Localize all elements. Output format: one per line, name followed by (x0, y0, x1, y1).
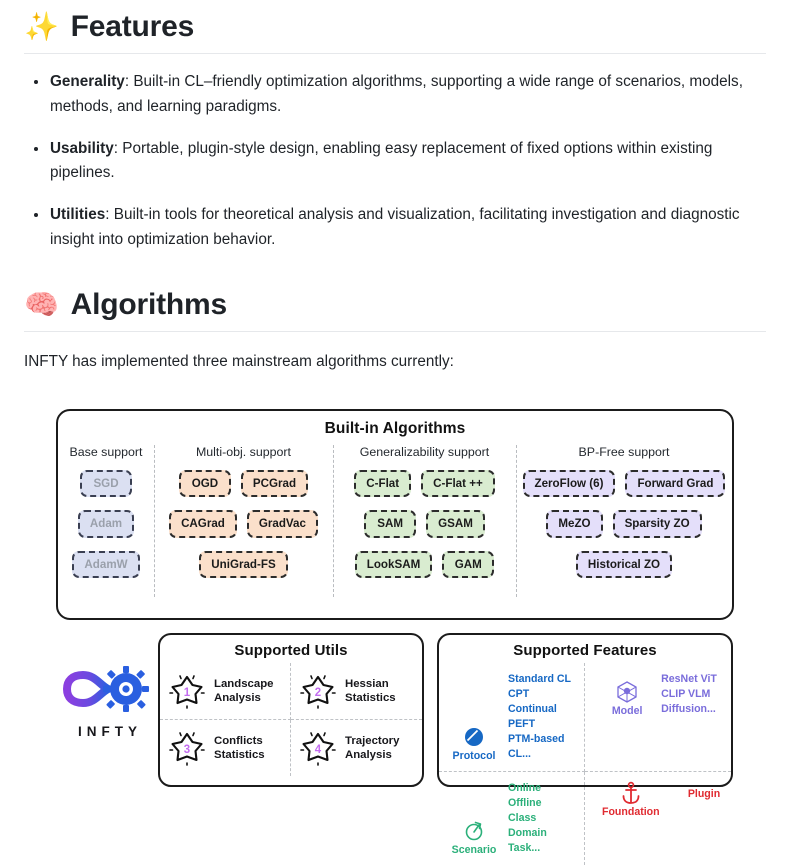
feature-item-protocol[interactable]: Protocol Standard CL CPT Continual PEFT … (439, 663, 585, 772)
util-item-hessian-statistics[interactable]: 2 Hessian Statistics (291, 663, 422, 720)
chip-row: ZeroFlow (6) Forward Grad (523, 470, 726, 497)
util-label-line1: Conflicts (214, 735, 263, 747)
chip-row: C-Flat C-Flat ++ (354, 470, 494, 497)
chip-row: SAM GSAM (364, 510, 485, 537)
feature-tag-line: Diffusion... (661, 702, 717, 717)
chip-row: UniGrad-FS (199, 551, 287, 578)
algorithms-divider (24, 331, 766, 332)
column-heading: Multi-obj. support (196, 445, 291, 459)
algorithm-chip-pcgrad[interactable]: PCGrad (241, 470, 308, 497)
feature-icon-label: Foundation (602, 806, 660, 818)
column-multiobj-support: Multi-obj. support OGD PCGrad CAGrad Gra… (154, 445, 333, 610)
infinity-gear-logo-icon (62, 665, 154, 713)
algorithm-chip-mezo[interactable]: MeZO (546, 510, 602, 537)
feature-item-generality: Generality: Built-in CL–friendly optimiz… (24, 70, 766, 120)
util-label-line1: Landscape (214, 678, 274, 690)
util-label: Landscape Analysis (214, 677, 274, 706)
algorithm-chip-looksam[interactable]: LookSAM (355, 551, 432, 578)
foundation-anchor-icon (620, 781, 642, 805)
feature-tags: ResNet ViT CLIP VLM Diffusion... (661, 672, 717, 717)
feature-item-utilities: Utilities: Built-in tools for theoretica… (24, 203, 766, 253)
algorithm-chip-gradvac[interactable]: GradVac (247, 510, 318, 537)
feature-tag-line: PTM-based CL... (508, 732, 577, 762)
util-label: Hessian Statistics (345, 677, 396, 706)
protocol-disc-icon (462, 725, 486, 749)
feature-item-foundation[interactable]: Foundation Plugin (585, 772, 731, 865)
page-root: ✨ Features Generality: Built-in CL–frien… (0, 0, 789, 800)
feature-tag-line: Online Offline (508, 781, 577, 811)
util-label-line1: Hessian (345, 678, 389, 690)
util-number: 3 (167, 729, 207, 767)
feature-icon-label: Model (612, 705, 643, 717)
util-label-line1: Trajectory (345, 735, 399, 747)
chip-rows: OGD PCGrad CAGrad GradVac UniGrad-FS (154, 470, 333, 578)
features-title: Features (71, 10, 194, 43)
algorithm-chip-forwardgrad[interactable]: Forward Grad (625, 470, 725, 497)
feature-icon-label: Scenario (452, 844, 497, 856)
star-icon: 1 (167, 672, 207, 710)
sparkles-icon: ✨ (24, 13, 59, 41)
infty-wordmark: INFTY (55, 724, 160, 739)
supported-features-title: Supported Features (439, 642, 731, 659)
util-label: Trajectory Analysis (345, 734, 399, 763)
chip-row: MeZO Sparsity ZO (546, 510, 701, 537)
algorithm-chip-historicalzo[interactable]: Historical ZO (576, 551, 672, 578)
feature-text: : Portable, plugin-style design, enablin… (50, 140, 712, 182)
feature-tag-line: Standard CL CPT (508, 672, 577, 702)
column-base-support: Base support SGD Adam AdamW (58, 445, 154, 610)
builtin-algorithms-columns: Base support SGD Adam AdamW Multi-obj. s… (58, 445, 732, 610)
feature-term: Generality (50, 73, 125, 90)
column-heading: Base support (69, 445, 142, 459)
feature-text: : Built-in CL–friendly optimization algo… (50, 73, 743, 115)
feature-tag-line: Continual PEFT (508, 702, 577, 732)
util-label-line2: Statistics (214, 749, 265, 761)
infty-logo: INFTY (55, 665, 160, 739)
chip-rows: SGD Adam AdamW (58, 470, 154, 578)
algorithms-title: Algorithms (71, 288, 227, 321)
algorithm-chip-sparsityzo[interactable]: Sparsity ZO (613, 510, 702, 537)
feature-tag-line: CLIP VLM (661, 687, 717, 702)
algorithm-chip-cflat[interactable]: C-Flat (354, 470, 411, 497)
chip-row: Adam (78, 510, 134, 537)
feature-tag-line: Class Domain (508, 811, 577, 841)
feature-tags: Standard CL CPT Continual PEFT PTM-based… (508, 672, 577, 762)
util-label-line2: Statistics (345, 692, 396, 704)
util-label-line2: Analysis (345, 749, 392, 761)
features-heading: ✨ Features (24, 10, 766, 43)
star-icon: 3 (167, 729, 207, 767)
feature-term: Usability (50, 140, 114, 157)
algorithm-chip-adamw[interactable]: AdamW (72, 551, 139, 578)
feature-item-model[interactable]: Model ResNet ViT CLIP VLM Diffusion... (585, 663, 731, 772)
feature-term: Utilities (50, 206, 105, 223)
model-cube-icon (615, 680, 639, 704)
algorithm-chip-cflatpp[interactable]: C-Flat ++ (421, 470, 495, 497)
algorithms-heading: 🧠 Algorithms (24, 288, 766, 321)
column-generalizability-support: Generalizability support C-Flat C-Flat +… (333, 445, 516, 610)
column-bpfree-support: BP-Free support ZeroFlow (6) Forward Gra… (516, 445, 732, 610)
algorithms-section: 🧠 Algorithms INFTY has implemented three… (24, 288, 766, 374)
chip-row: SGD (80, 470, 132, 497)
feature-item-scenario[interactable]: Scenario Online Offline Class Domain Tas… (439, 772, 585, 865)
algorithms-intro: INFTY has implemented three mainstream a… (24, 350, 766, 374)
algorithm-chip-gsam[interactable]: GSAM (426, 510, 485, 537)
algorithm-chip-cagrad[interactable]: CAGrad (169, 510, 237, 537)
builtin-algorithms-box: Built-in Algorithms Base support SGD Ada… (56, 409, 734, 620)
supported-features-panel: Supported Features Protocol Standard CL … (437, 633, 733, 787)
chip-row: LookSAM GAM (355, 551, 494, 578)
feature-text: : Built-in tools for theoretical analysi… (50, 206, 740, 248)
supported-utils-title: Supported Utils (160, 642, 422, 659)
util-number: 2 (298, 672, 338, 710)
chip-row: CAGrad GradVac (169, 510, 318, 537)
algorithm-chip-gam[interactable]: GAM (442, 551, 494, 578)
algorithm-chip-sgd[interactable]: SGD (80, 470, 132, 497)
brain-icon: 🧠 (24, 291, 59, 319)
features-divider (24, 53, 766, 54)
features-list: Generality: Built-in CL–friendly optimiz… (24, 70, 766, 253)
util-label: Conflicts Statistics (214, 734, 265, 763)
star-icon: 4 (298, 729, 338, 767)
feature-tags: Plugin (688, 787, 720, 818)
supported-utils-panel: Supported Utils 1 Landscape (158, 633, 424, 787)
util-item-landscape-analysis[interactable]: 1 Landscape Analysis (160, 663, 291, 720)
builtin-algorithms-title: Built-in Algorithms (58, 420, 732, 438)
features-grid: Protocol Standard CL CPT Continual PEFT … (439, 663, 731, 865)
chip-rows: ZeroFlow (6) Forward Grad MeZO Sparsity … (516, 470, 732, 578)
scenario-refresh-icon (462, 819, 486, 843)
algorithm-chip-adam[interactable]: Adam (78, 510, 134, 537)
feature-icon-label: Protocol (453, 750, 496, 762)
feature-tag-line: ResNet ViT (661, 672, 717, 687)
utils-grid: 1 Landscape Analysis (160, 663, 422, 776)
chip-rows: C-Flat C-Flat ++ SAM GSAM LookSAM GAM (333, 470, 516, 578)
algorithm-chip-ogd[interactable]: OGD (179, 470, 231, 497)
chip-row: Historical ZO (576, 551, 672, 578)
util-label-line2: Analysis (214, 692, 261, 704)
util-number: 1 (167, 672, 207, 710)
util-item-trajectory-analysis[interactable]: 4 Trajectory Analysis (291, 720, 422, 776)
chip-row: AdamW (72, 551, 139, 578)
algorithm-chip-unigradfs[interactable]: UniGrad-FS (199, 551, 287, 578)
util-item-conflicts-statistics[interactable]: 3 Conflicts Statistics (160, 720, 291, 776)
star-icon: 2 (298, 672, 338, 710)
algorithm-chip-zeroflow[interactable]: ZeroFlow (6) (523, 470, 616, 497)
chip-row: OGD PCGrad (179, 470, 308, 497)
feature-tag-line: Task... (508, 841, 577, 856)
feature-tags: Online Offline Class Domain Task... (508, 781, 577, 856)
features-section: ✨ Features Generality: Built-in CL–frien… (24, 10, 766, 270)
feature-item-usability: Usability: Portable, plugin-style design… (24, 137, 766, 187)
util-number: 4 (298, 729, 338, 767)
column-heading: BP-Free support (579, 445, 670, 459)
algorithm-chip-sam[interactable]: SAM (364, 510, 416, 537)
column-heading: Generalizability support (360, 445, 489, 459)
